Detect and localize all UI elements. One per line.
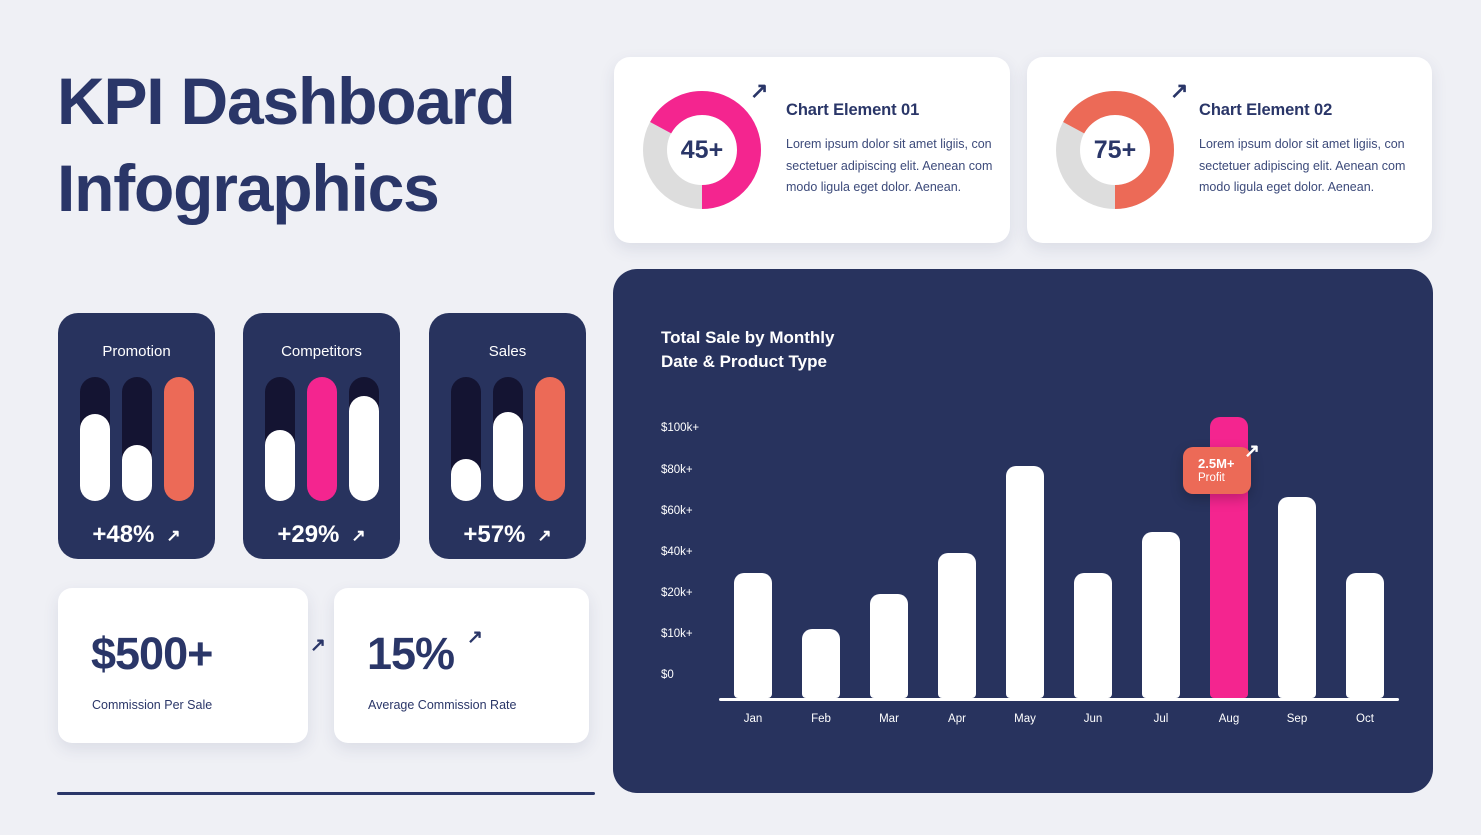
metric-percent: +48%: [92, 521, 154, 549]
donut-text-01: Chart Element 01 Lorem ipsum dolor sit a…: [786, 101, 994, 199]
x-axis-line: [719, 698, 1399, 701]
metric-bar-3: [535, 377, 565, 501]
metric-card-footer: +48%↗: [92, 521, 180, 549]
trend-arrow-icon-02[interactable]: ↗: [1170, 80, 1188, 102]
chart-title: Total Sale by Monthly Date & Product Typ…: [661, 326, 834, 374]
chart-title-line-1: Total Sale by Monthly: [661, 326, 834, 350]
page-title: KPI Dashboard Infographics: [57, 58, 617, 232]
donut-card-chart-element-01[interactable]: 45+ Chart Element 01 Lorem ipsum dolor s…: [614, 57, 1010, 243]
trend-arrow-icon[interactable]: ↗: [166, 527, 180, 544]
donut-body-02: Lorem ipsum dolor sit amet ligiis, con s…: [1199, 134, 1416, 199]
chart-plot: $100k+$80k+$60k+$40k+$20k+$10k+$0 JanFeb…: [661, 417, 1399, 755]
metric-bar-fill: [80, 414, 110, 501]
metric-card-competitors[interactable]: Competitors+29%↗: [243, 313, 400, 559]
metric-bar-1: [451, 377, 481, 501]
chart-bar-jan[interactable]: [734, 573, 772, 698]
chart-bar-apr[interactable]: [938, 553, 976, 698]
x-axis-tick-aug: Aug: [1195, 713, 1263, 725]
chart-tooltip-profit[interactable]: 2.5M+ Profit: [1183, 447, 1251, 494]
x-axis-tick-may: May: [991, 713, 1059, 725]
metric-bar-fill: [451, 459, 481, 501]
metric-card-footer: +57%↗: [463, 521, 551, 549]
metric-bar-1: [265, 377, 295, 501]
bottom-divider: [57, 792, 595, 795]
chart-title-line-2: Date & Product Type: [661, 350, 834, 374]
x-axis: JanFebMarAprMayJunJulAugSepOct: [719, 713, 1399, 725]
trend-arrow-icon-stat-1[interactable]: ↗: [467, 628, 483, 647]
bar-slot: [1263, 417, 1331, 698]
x-axis-tick-jun: Jun: [1059, 713, 1127, 725]
metric-bar-1: [80, 377, 110, 501]
trend-arrow-icon-stat-0[interactable]: ↗: [310, 636, 326, 655]
metric-bar-fill: [493, 412, 523, 501]
stat-caption-1: Average Commission Rate: [368, 698, 516, 712]
x-axis-tick-oct: Oct: [1331, 713, 1399, 725]
infographic-root: KPI Dashboard Infographics 45+ Chart Ele…: [0, 0, 1481, 835]
y-axis-tick: $40k+: [661, 546, 693, 558]
metric-card-bars: [265, 377, 379, 501]
y-axis-tick: $20k+: [661, 587, 693, 599]
trend-arrow-icon-chart[interactable]: ↗: [1244, 442, 1260, 461]
metric-card-label: Promotion: [102, 343, 170, 360]
stat-card-average-commission-rate[interactable]: 15% ↗ Average Commission Rate: [334, 588, 589, 743]
metric-card-footer: +29%↗: [277, 521, 365, 549]
metric-card-bars: [80, 377, 194, 501]
donut-text-02: Chart Element 02 Lorem ipsum dolor sit a…: [1199, 101, 1416, 199]
y-axis-tick: $100k+: [661, 422, 699, 434]
chart-bar-mar[interactable]: [870, 594, 908, 698]
metric-bar-2: [493, 377, 523, 501]
y-axis-tick: $10k+: [661, 628, 693, 640]
stat-caption-0: Commission Per Sale: [92, 698, 212, 712]
y-axis-tick: $80k+: [661, 464, 693, 476]
bar-slot: [1059, 417, 1127, 698]
metric-card-label: Sales: [489, 343, 527, 360]
y-axis-tick: $0: [661, 669, 674, 681]
donut-card-chart-element-02[interactable]: 75+ Chart Element 02 Lorem ipsum dolor s…: [1027, 57, 1432, 243]
bar-slot: [855, 417, 923, 698]
metric-card-sales[interactable]: Sales+57%↗: [429, 313, 586, 559]
metric-bar-fill: [265, 430, 295, 501]
metric-card-label: Competitors: [281, 343, 362, 360]
plot-area: [719, 417, 1399, 701]
donut-body-01: Lorem ipsum dolor sit amet ligiis, con s…: [786, 134, 994, 199]
x-axis-tick-mar: Mar: [855, 713, 923, 725]
bar-series: [719, 417, 1399, 698]
bar-slot: [923, 417, 991, 698]
metric-bar-fill: [122, 445, 152, 501]
donut-chart-02: 75+: [1053, 88, 1177, 212]
metric-card-bars: [451, 377, 565, 501]
chart-bar-sep[interactable]: [1278, 497, 1316, 698]
chart-bar-oct[interactable]: [1346, 573, 1384, 698]
metric-percent: +57%: [463, 521, 525, 549]
y-axis: $100k+$80k+$60k+$40k+$20k+$10k+$0: [661, 417, 719, 701]
donut-heading-01: Chart Element 01: [786, 101, 994, 120]
metric-bar-3: [164, 377, 194, 501]
donut-heading-02: Chart Element 02: [1199, 101, 1416, 120]
tooltip-value: 2.5M+: [1198, 456, 1235, 471]
x-axis-tick-jul: Jul: [1127, 713, 1195, 725]
bar-slot: [1331, 417, 1399, 698]
trend-arrow-icon[interactable]: ↗: [351, 527, 365, 544]
monthly-sales-chart-panel: Total Sale by Monthly Date & Product Typ…: [613, 269, 1433, 793]
metric-card-promotion[interactable]: Promotion+48%↗: [58, 313, 215, 559]
metric-percent: +29%: [277, 521, 339, 549]
metric-bar-3: [349, 377, 379, 501]
metric-bar-2: [307, 377, 337, 501]
page-title-line-1: KPI Dashboard: [57, 58, 617, 145]
stat-value-1: 15%: [367, 628, 454, 680]
chart-bar-jun[interactable]: [1074, 573, 1112, 698]
bar-slot: [787, 417, 855, 698]
tooltip-label: Profit: [1198, 472, 1235, 484]
bar-slot: [719, 417, 787, 698]
x-axis-tick-apr: Apr: [923, 713, 991, 725]
stat-card-commission-per-sale[interactable]: $500+ ↗ Commission Per Sale: [58, 588, 308, 743]
donut-value-02: 75+: [1053, 88, 1177, 212]
metric-bar-fill: [349, 396, 379, 501]
donut-value-01: 45+: [640, 88, 764, 212]
metric-bar-2: [122, 377, 152, 501]
page-title-line-2: Infographics: [57, 145, 617, 232]
stat-value-0: $500+: [91, 628, 212, 680]
x-axis-tick-feb: Feb: [787, 713, 855, 725]
trend-arrow-icon-01[interactable]: ↗: [750, 80, 768, 102]
bar-slot: [991, 417, 1059, 698]
trend-arrow-icon[interactable]: ↗: [537, 527, 551, 544]
chart-bar-feb[interactable]: [802, 629, 840, 698]
y-axis-tick: $60k+: [661, 505, 693, 517]
donut-chart-01: 45+: [640, 88, 764, 212]
x-axis-tick-sep: Sep: [1263, 713, 1331, 725]
x-axis-tick-jan: Jan: [719, 713, 787, 725]
chart-bar-jul[interactable]: [1142, 532, 1180, 698]
chart-bar-may[interactable]: [1006, 466, 1044, 698]
